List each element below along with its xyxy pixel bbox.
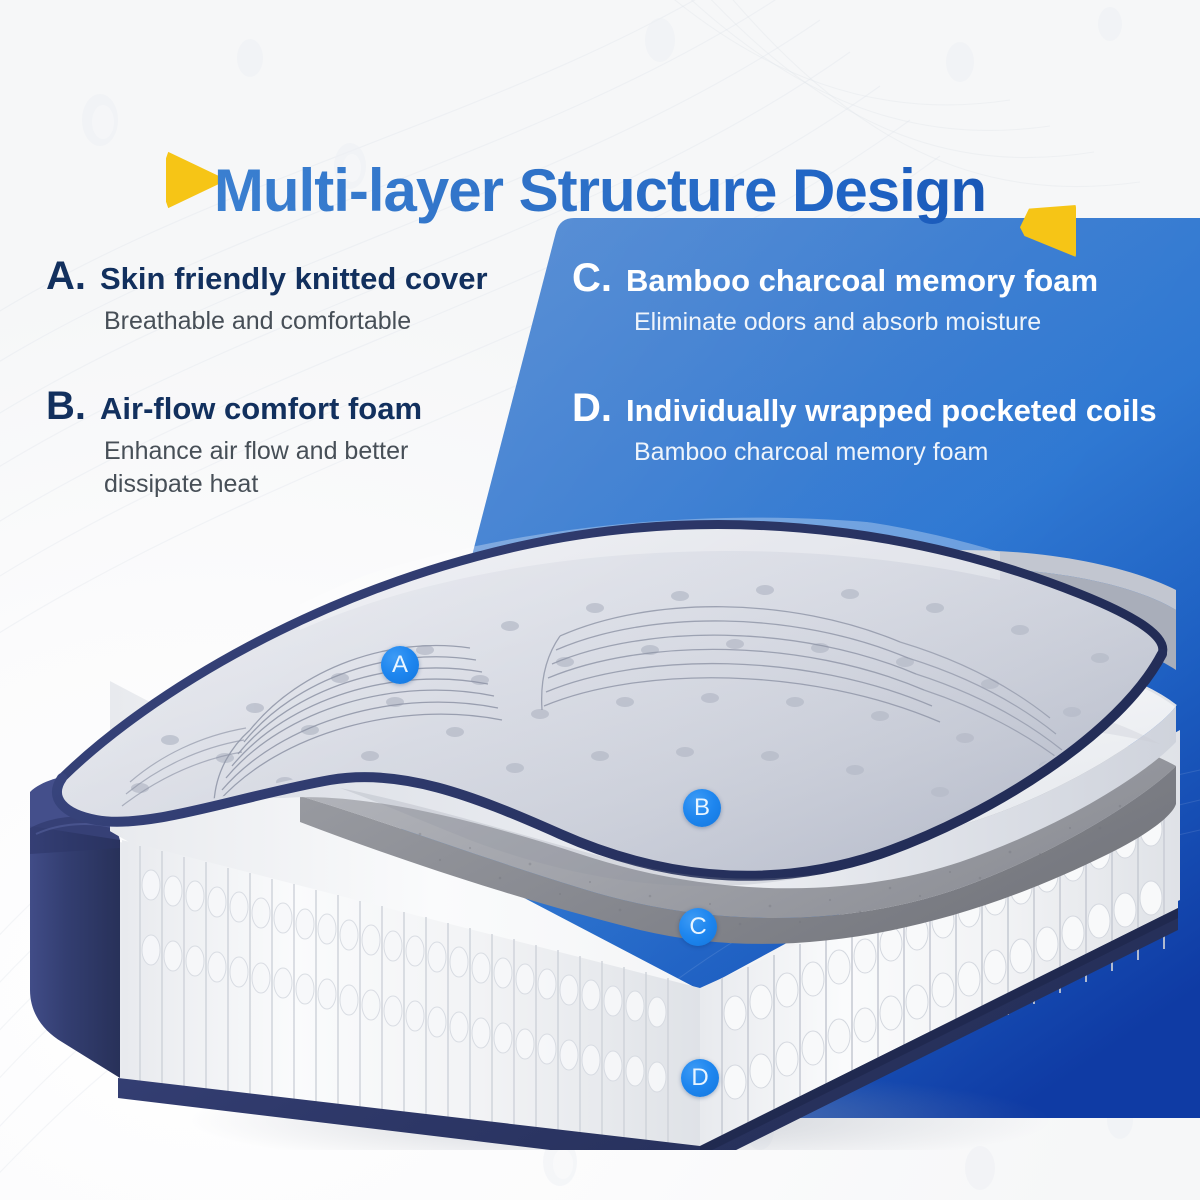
feature-a-letter: A. — [46, 256, 86, 296]
marker-c[interactable]: C — [679, 908, 717, 946]
feature-b-letter: B. — [46, 386, 86, 426]
feature-b-heading: Air-flow comfort foam — [100, 392, 422, 426]
feature-d-headline-row: D. Individually wrapped pocketed coils — [572, 388, 1157, 428]
feature-c-headline-row: C. Bamboo charcoal memory foam — [572, 258, 1098, 298]
feature-b-headline-row: B. Air-flow comfort foam — [46, 386, 434, 426]
feature-a-headline-row: A. Skin friendly knitted cover — [46, 256, 488, 296]
feature-item-a: A. Skin friendly knitted cover Breathabl… — [46, 256, 488, 338]
feature-d-letter: D. — [572, 388, 612, 428]
feature-d-heading: Individually wrapped pocketed coils — [626, 394, 1157, 428]
marker-d[interactable]: D — [681, 1059, 719, 1097]
marker-b[interactable]: B — [683, 789, 721, 827]
mattress-cutaway-image — [0, 430, 1200, 1150]
feature-c-letter: C. — [572, 258, 612, 298]
feature-a-heading: Skin friendly knitted cover — [100, 262, 488, 296]
feature-item-c: C. Bamboo charcoal memory foam Eliminate… — [572, 258, 1098, 339]
marker-a[interactable]: A — [381, 646, 419, 684]
title-area: Multi-layer Structure Design — [0, 72, 1200, 182]
feature-c-subtext: Eliminate odors and absorb moisture — [634, 306, 1098, 339]
feature-a-subtext: Breathable and comfortable — [104, 305, 488, 338]
infographic-canvas: Multi-layer Structure Design A. Skin fri… — [0, 0, 1200, 1200]
feature-c-heading: Bamboo charcoal memory foam — [626, 264, 1098, 298]
page-title: Multi-layer Structure Design — [0, 156, 1200, 225]
